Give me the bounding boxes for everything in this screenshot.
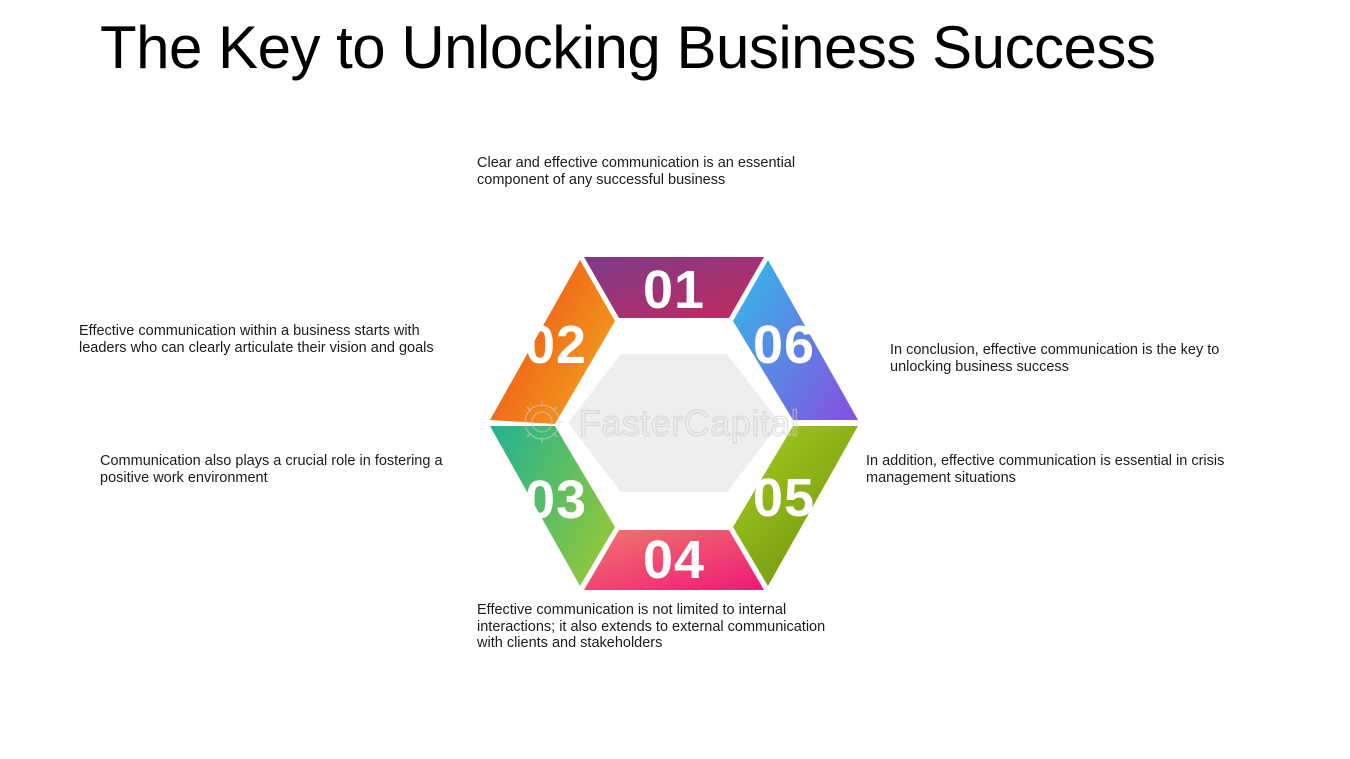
hex-segment-label-05: 05 <box>753 468 815 528</box>
hex-segment-label-02: 02 <box>525 315 587 375</box>
segment-caption-02: Effective communication within a busines… <box>79 323 459 356</box>
hex-segment-label-03: 03 <box>525 470 587 530</box>
segment-caption-04: Effective communication is not limited t… <box>477 602 852 652</box>
segment-caption-01: Clear and effective communication is an … <box>477 155 822 188</box>
hex-segment-label-01: 01 <box>643 260 705 320</box>
segment-caption-06: In conclusion, effective communication i… <box>890 342 1250 375</box>
hex-segment-01[interactable]: 01 <box>584 257 764 320</box>
slide-canvas: The Key to Unlocking Business Success Cl… <box>0 0 1350 759</box>
watermark-label: FasterCapital <box>579 403 800 444</box>
hex-segment-label-06: 06 <box>753 315 815 375</box>
segment-caption-03: Communication also plays a crucial role … <box>100 453 470 486</box>
hexagon-diagram: 01 02 03 04 05 <box>484 250 864 590</box>
segment-caption-05: In addition, effective communication is … <box>866 453 1246 486</box>
page-title: The Key to Unlocking Business Success <box>100 12 1240 84</box>
hex-segment-label-04: 04 <box>643 530 705 590</box>
hex-segment-04[interactable]: 04 <box>584 530 764 590</box>
